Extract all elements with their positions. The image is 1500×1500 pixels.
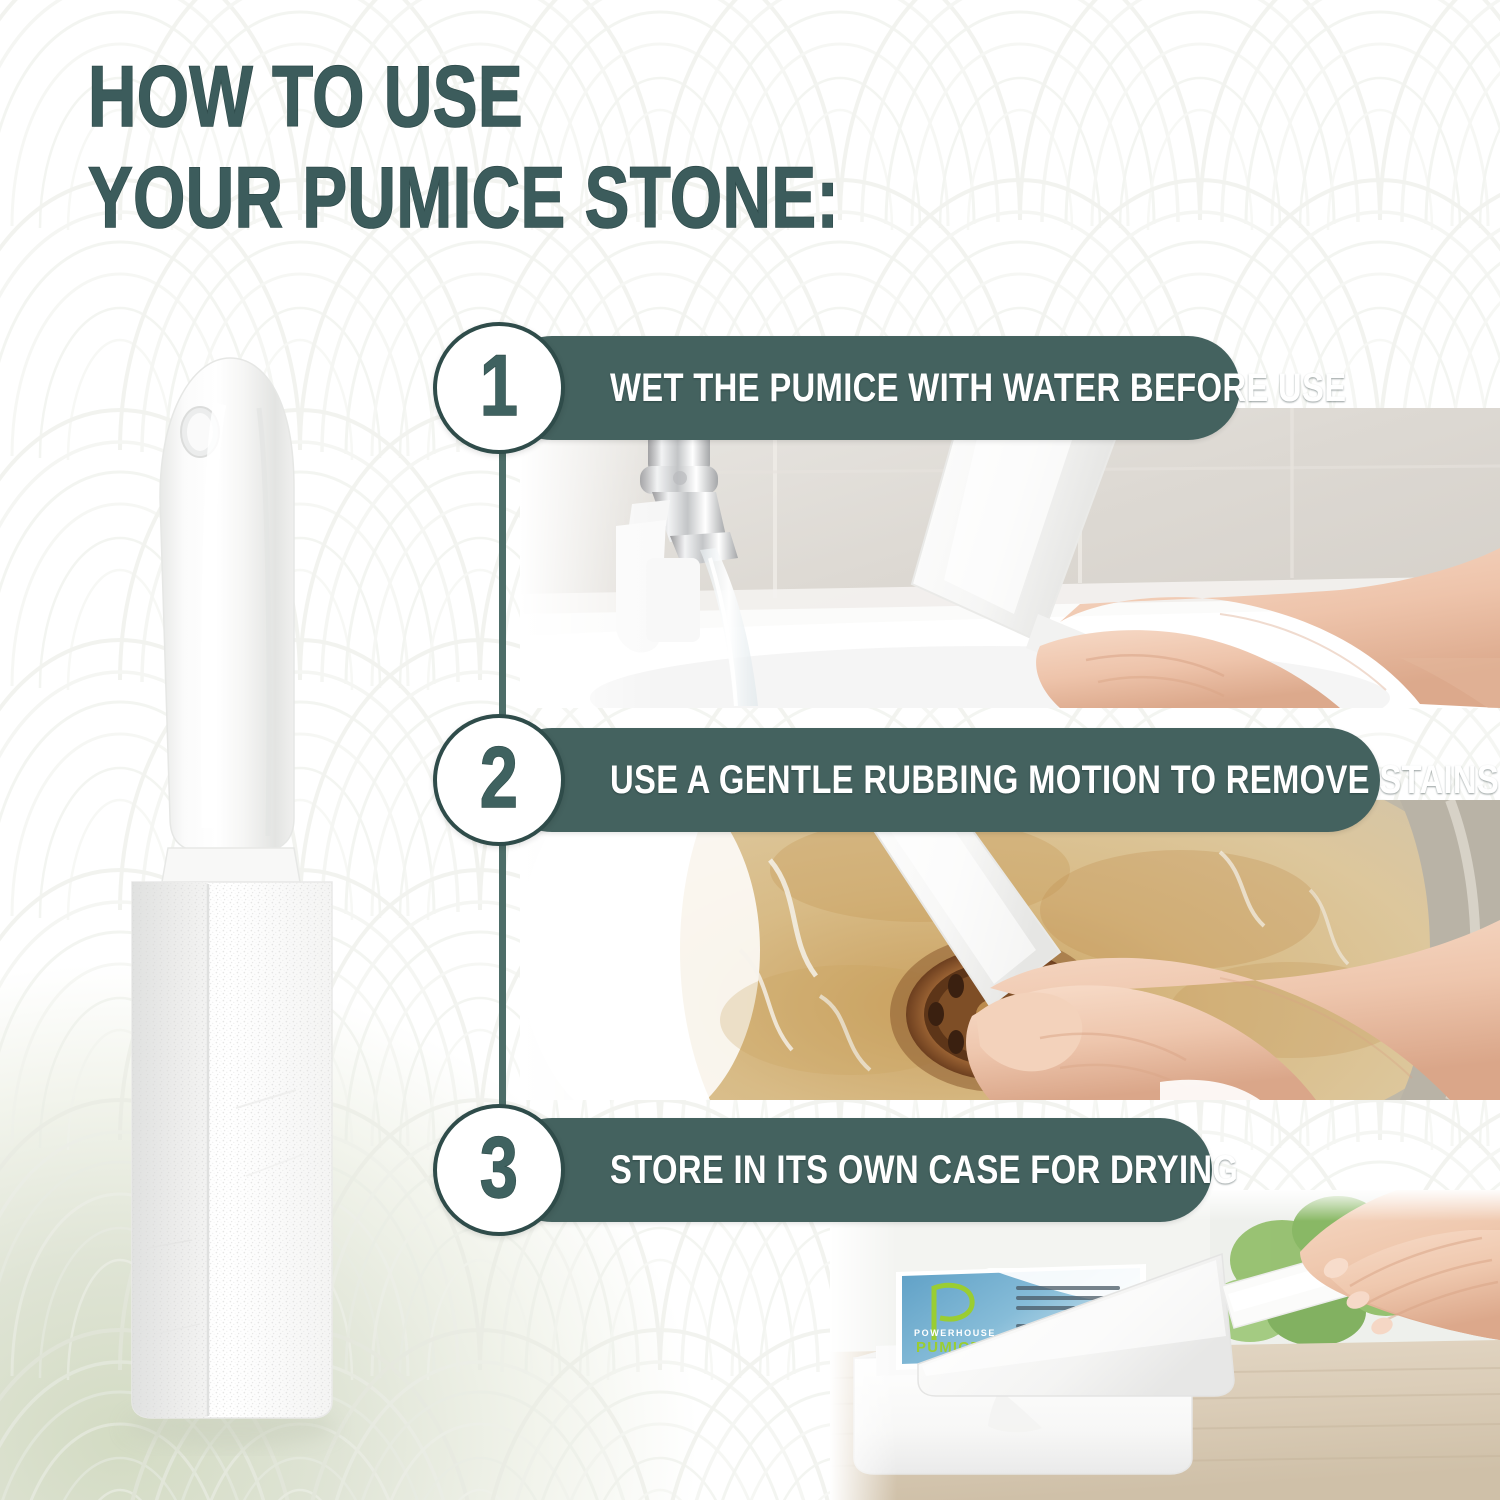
photo-storing-pumice-in-case: POWERHOUSE PUMICE [830,1190,1500,1500]
step-pill-3[interactable]: STORE IN ITS OWN CASE FOR DRYING [500,1118,1212,1222]
photo-wetting-pumice-under-faucet [520,408,1500,708]
pumice-block [132,882,332,1418]
page-title: HOW TO USE YOUR PUMICE STONE: [88,56,918,239]
step-label-1: WET THE PUMICE WITH WATER BEFORE USE [610,366,1346,411]
infographic-root: HOW TO USE YOUR PUMICE STONE: [0,0,1500,1500]
step-label-2: USE A GENTLE RUBBING MOTION TO REMOVE ST… [610,758,1499,803]
photo-scrubbing-stained-sink-drain [520,800,1500,1100]
product-pumice-stone-with-handle [96,348,364,1456]
step-number-3: 3 [480,1125,518,1211]
step-connector-1-2 [499,440,506,758]
step-badge-3[interactable]: 3 [433,1104,565,1236]
step-pill-1[interactable]: WET THE PUMICE WITH WATER BEFORE USE [500,336,1240,440]
step-badge-1[interactable]: 1 [433,322,565,454]
step-number-2: 2 [480,735,518,821]
title-line-2: YOUR PUMICE STONE: [88,157,735,240]
handle-collar [162,848,300,882]
step-pill-2[interactable]: USE A GENTLE RUBBING MOTION TO REMOVE ST… [500,728,1380,832]
step-connector-2-3 [499,832,506,1150]
step-badge-2[interactable]: 2 [433,714,565,846]
step-label-3: STORE IN ITS OWN CASE FOR DRYING [610,1148,1238,1193]
title-line-1: HOW TO USE [88,56,735,139]
step-number-1: 1 [480,343,518,429]
